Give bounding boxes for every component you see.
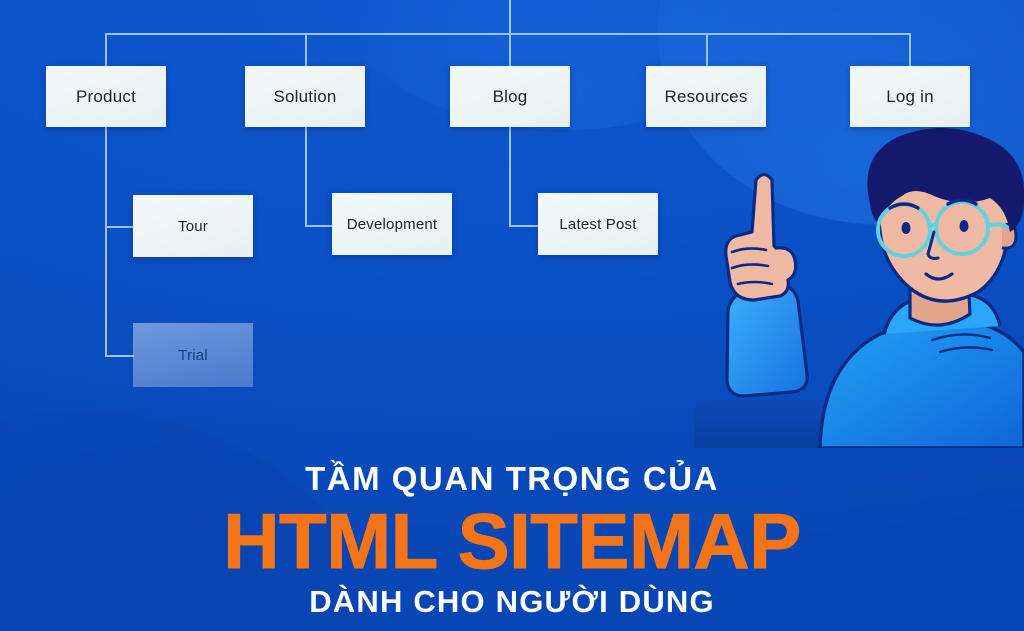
edge-root-bus <box>105 33 910 35</box>
edge-product-spine <box>105 127 107 356</box>
sitemap-node-blog[interactable]: Blog <box>450 66 570 127</box>
edge-root-stem <box>509 0 511 34</box>
sitemap-node-product[interactable]: Product <box>46 66 166 127</box>
edge-solution-to-development <box>305 225 333 227</box>
poster-canvas: Product Solution Blog Resources Log in T… <box>0 0 1024 631</box>
headline-kicker: TẦM QUAN TRỌNG CỦA <box>0 462 1024 495</box>
sitemap-node-trial[interactable]: Trial <box>133 323 253 387</box>
edge-bus-to-solution <box>305 33 307 66</box>
sitemap-node-latest-post[interactable]: Latest Post <box>538 193 658 255</box>
edge-bus-to-resources <box>706 33 708 66</box>
headline-block: TẦM QUAN TRỌNG CỦA HTML SITEMAP DÀNH CHO… <box>0 462 1024 627</box>
edge-solution-spine <box>305 127 307 227</box>
edge-blog-to-latest-post <box>509 225 539 227</box>
edge-product-to-tour <box>105 226 134 228</box>
edge-blog-spine <box>509 127 511 227</box>
sitemap-node-tour[interactable]: Tour <box>133 195 253 257</box>
edge-product-to-trial <box>105 355 134 357</box>
edge-bus-to-product <box>105 33 107 66</box>
edge-bus-to-blog <box>509 33 511 66</box>
sitemap-node-development[interactable]: Development <box>332 193 452 255</box>
headline-subtitle: DÀNH CHO NGƯỜI DÙNG <box>0 586 1024 627</box>
sitemap-node-login[interactable]: Log in <box>850 66 970 127</box>
edge-bus-to-login <box>909 33 911 66</box>
sitemap-node-solution[interactable]: Solution <box>245 66 365 127</box>
sitemap-node-resources[interactable]: Resources <box>646 66 766 127</box>
headline-title: HTML SITEMAP <box>0 504 1024 578</box>
